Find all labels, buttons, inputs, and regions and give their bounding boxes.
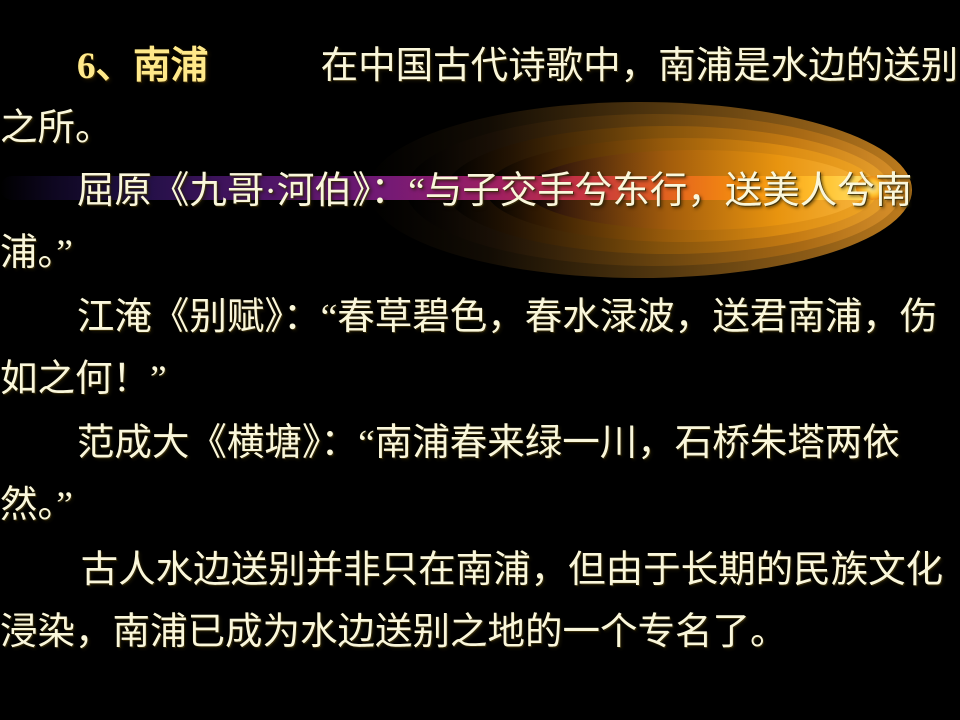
slide-text-body: 6、南浦在中国古代诗歌中，南浦是水边的送别之所。 屈原《九哥·河伯》：“与子交手…	[0, 0, 960, 720]
paragraph-fanchengda: 范成大《横塘》：“南浦春来绿一川，石桥朱塔两依然。”	[0, 413, 960, 537]
paragraph-heading: 6、南浦在中国古代诗歌中，南浦是水边的送别之所。	[0, 36, 960, 160]
slide-canvas: 6、南浦在中国古代诗歌中，南浦是水边的送别之所。 屈原《九哥·河伯》：“与子交手…	[0, 0, 960, 720]
paragraph-quyuan: 屈原《九哥·河伯》：“与子交手兮东行，送美人兮南浦。”	[0, 161, 960, 285]
paragraph-conclusion: 古人水边送别并非只在南浦，但由于长期的民族文化浸染，南浦已成为水边送别之地的一个…	[0, 540, 960, 664]
heading-number-label: 6、南浦	[77, 46, 208, 87]
paragraph-jiangyan: 江淹《别赋》：“春草碧色，春水渌波，送君南浦，伤如之何！”	[0, 287, 960, 411]
